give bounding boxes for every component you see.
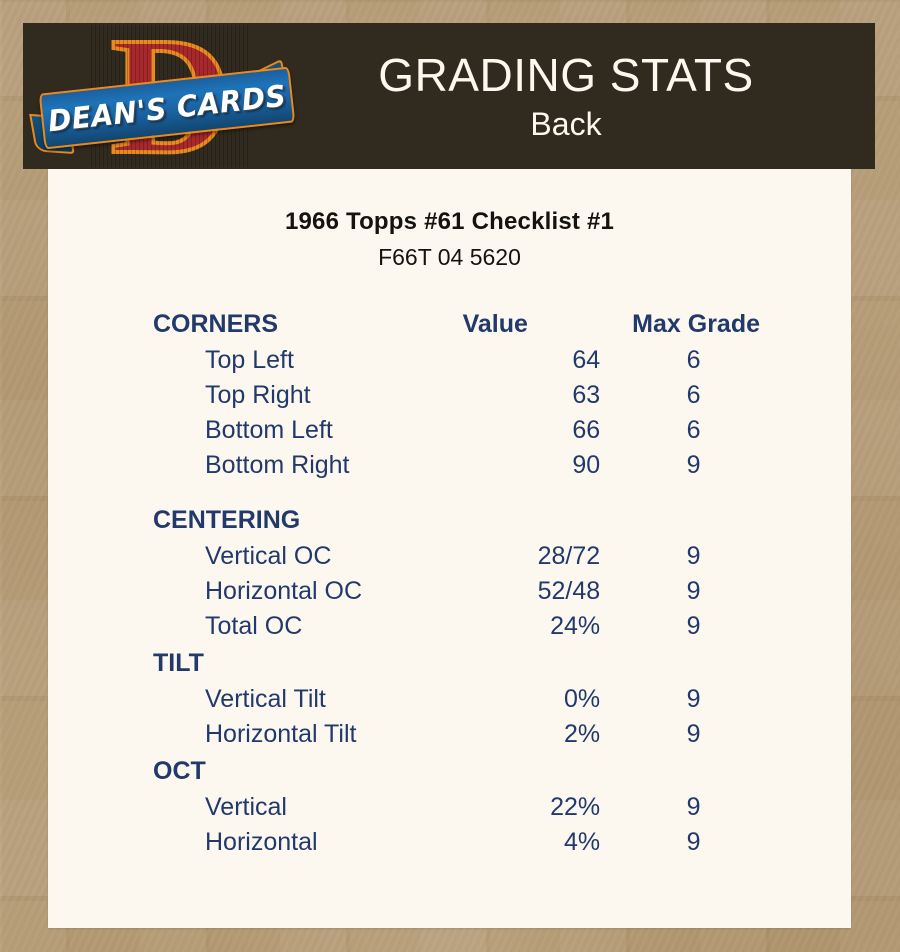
stat-value: 4%: [463, 825, 633, 860]
stat-row: Bottom Left666: [153, 413, 799, 448]
stat-value: 24%: [463, 609, 633, 644]
section-header-row: CORNERSValueMax Grade: [153, 305, 799, 343]
section-header-row: OCT: [153, 752, 799, 790]
section-header-row: TILT: [153, 644, 799, 682]
stat-value: 63: [463, 378, 633, 413]
column-header-value: Value: [463, 305, 633, 343]
stat-label: Horizontal: [153, 825, 463, 860]
header-title-group: GRADING STATS Back: [293, 48, 875, 144]
stat-value: 0%: [463, 682, 633, 717]
stat-label: Total OC: [153, 609, 463, 644]
stat-row: Top Left646: [153, 343, 799, 378]
deans-cards-logo[interactable]: D DEAN'S CARDS: [23, 23, 293, 169]
section-header-spacer: [463, 483, 633, 539]
header-bar: D DEAN'S CARDS GRADING STATS Back: [23, 23, 875, 169]
section-title: TILT: [153, 644, 463, 682]
stat-label: Top Left: [153, 343, 463, 378]
stat-max-grade: 6: [632, 343, 799, 378]
stat-max-grade: 9: [632, 790, 799, 825]
logo-banner-text: DEAN'S CARDS: [46, 78, 287, 138]
stat-row: Vertical OC28/729: [153, 539, 799, 574]
stat-max-grade: 9: [632, 539, 799, 574]
section-title: CORNERS: [153, 305, 463, 343]
stat-value: 64: [463, 343, 633, 378]
stat-row: Top Right636: [153, 378, 799, 413]
stat-label: Bottom Right: [153, 448, 463, 483]
stat-label: Horizontal Tilt: [153, 717, 463, 752]
stat-value: 2%: [463, 717, 633, 752]
section-header-spacer: [463, 752, 633, 790]
stat-max-grade: 9: [632, 825, 799, 860]
grading-stats-table: CORNERSValueMax GradeTop Left646Top Righ…: [153, 305, 799, 860]
stat-label: Vertical Tilt: [153, 682, 463, 717]
section-header-spacer: [632, 483, 799, 539]
stat-max-grade: 9: [632, 609, 799, 644]
stat-row: Horizontal OC52/489: [153, 574, 799, 609]
stat-value: 66: [463, 413, 633, 448]
stat-row: Horizontal Tilt2%9: [153, 717, 799, 752]
stat-row: Horizontal4%9: [153, 825, 799, 860]
stat-label: Vertical: [153, 790, 463, 825]
card-code: F66T 04 5620: [48, 242, 851, 272]
card-title: 1966 Topps #61 Checklist #1: [48, 207, 851, 237]
grading-stats-table-body: CORNERSValueMax GradeTop Left646Top Righ…: [153, 305, 799, 860]
stat-value: 90: [463, 448, 633, 483]
page-subtitle: Back: [293, 104, 839, 144]
stat-row: Total OC24%9: [153, 609, 799, 644]
section-header-spacer: [463, 644, 633, 682]
stat-max-grade: 9: [632, 717, 799, 752]
stat-row: Vertical Tilt0%9: [153, 682, 799, 717]
stat-row: Bottom Right909: [153, 448, 799, 483]
section-header-spacer: [632, 644, 799, 682]
stat-row: Vertical22%9: [153, 790, 799, 825]
stat-max-grade: 9: [632, 682, 799, 717]
grading-stats-section: CORNERSValueMax GradeTop Left646Top Righ…: [48, 305, 851, 860]
page-title: GRADING STATS: [293, 48, 839, 102]
section-title: CENTERING: [153, 483, 463, 539]
section-header-row: CENTERING: [153, 483, 799, 539]
stat-max-grade: 9: [632, 574, 799, 609]
section-title: OCT: [153, 752, 463, 790]
stat-label: Top Right: [153, 378, 463, 413]
stat-label: Bottom Left: [153, 413, 463, 448]
stat-max-grade: 6: [632, 413, 799, 448]
section-header-spacer: [632, 752, 799, 790]
stat-value: 52/48: [463, 574, 633, 609]
stat-max-grade: 9: [632, 448, 799, 483]
stat-label: Horizontal OC: [153, 574, 463, 609]
stat-max-grade: 6: [632, 378, 799, 413]
stat-value: 22%: [463, 790, 633, 825]
column-header-max-grade: Max Grade: [632, 305, 799, 343]
content-panel: 1966 Topps #61 Checklist #1 F66T 04 5620…: [48, 169, 851, 928]
page-root: D DEAN'S CARDS GRADING STATS Back 1966 T…: [0, 0, 900, 952]
stat-value: 28/72: [463, 539, 633, 574]
stat-label: Vertical OC: [153, 539, 463, 574]
